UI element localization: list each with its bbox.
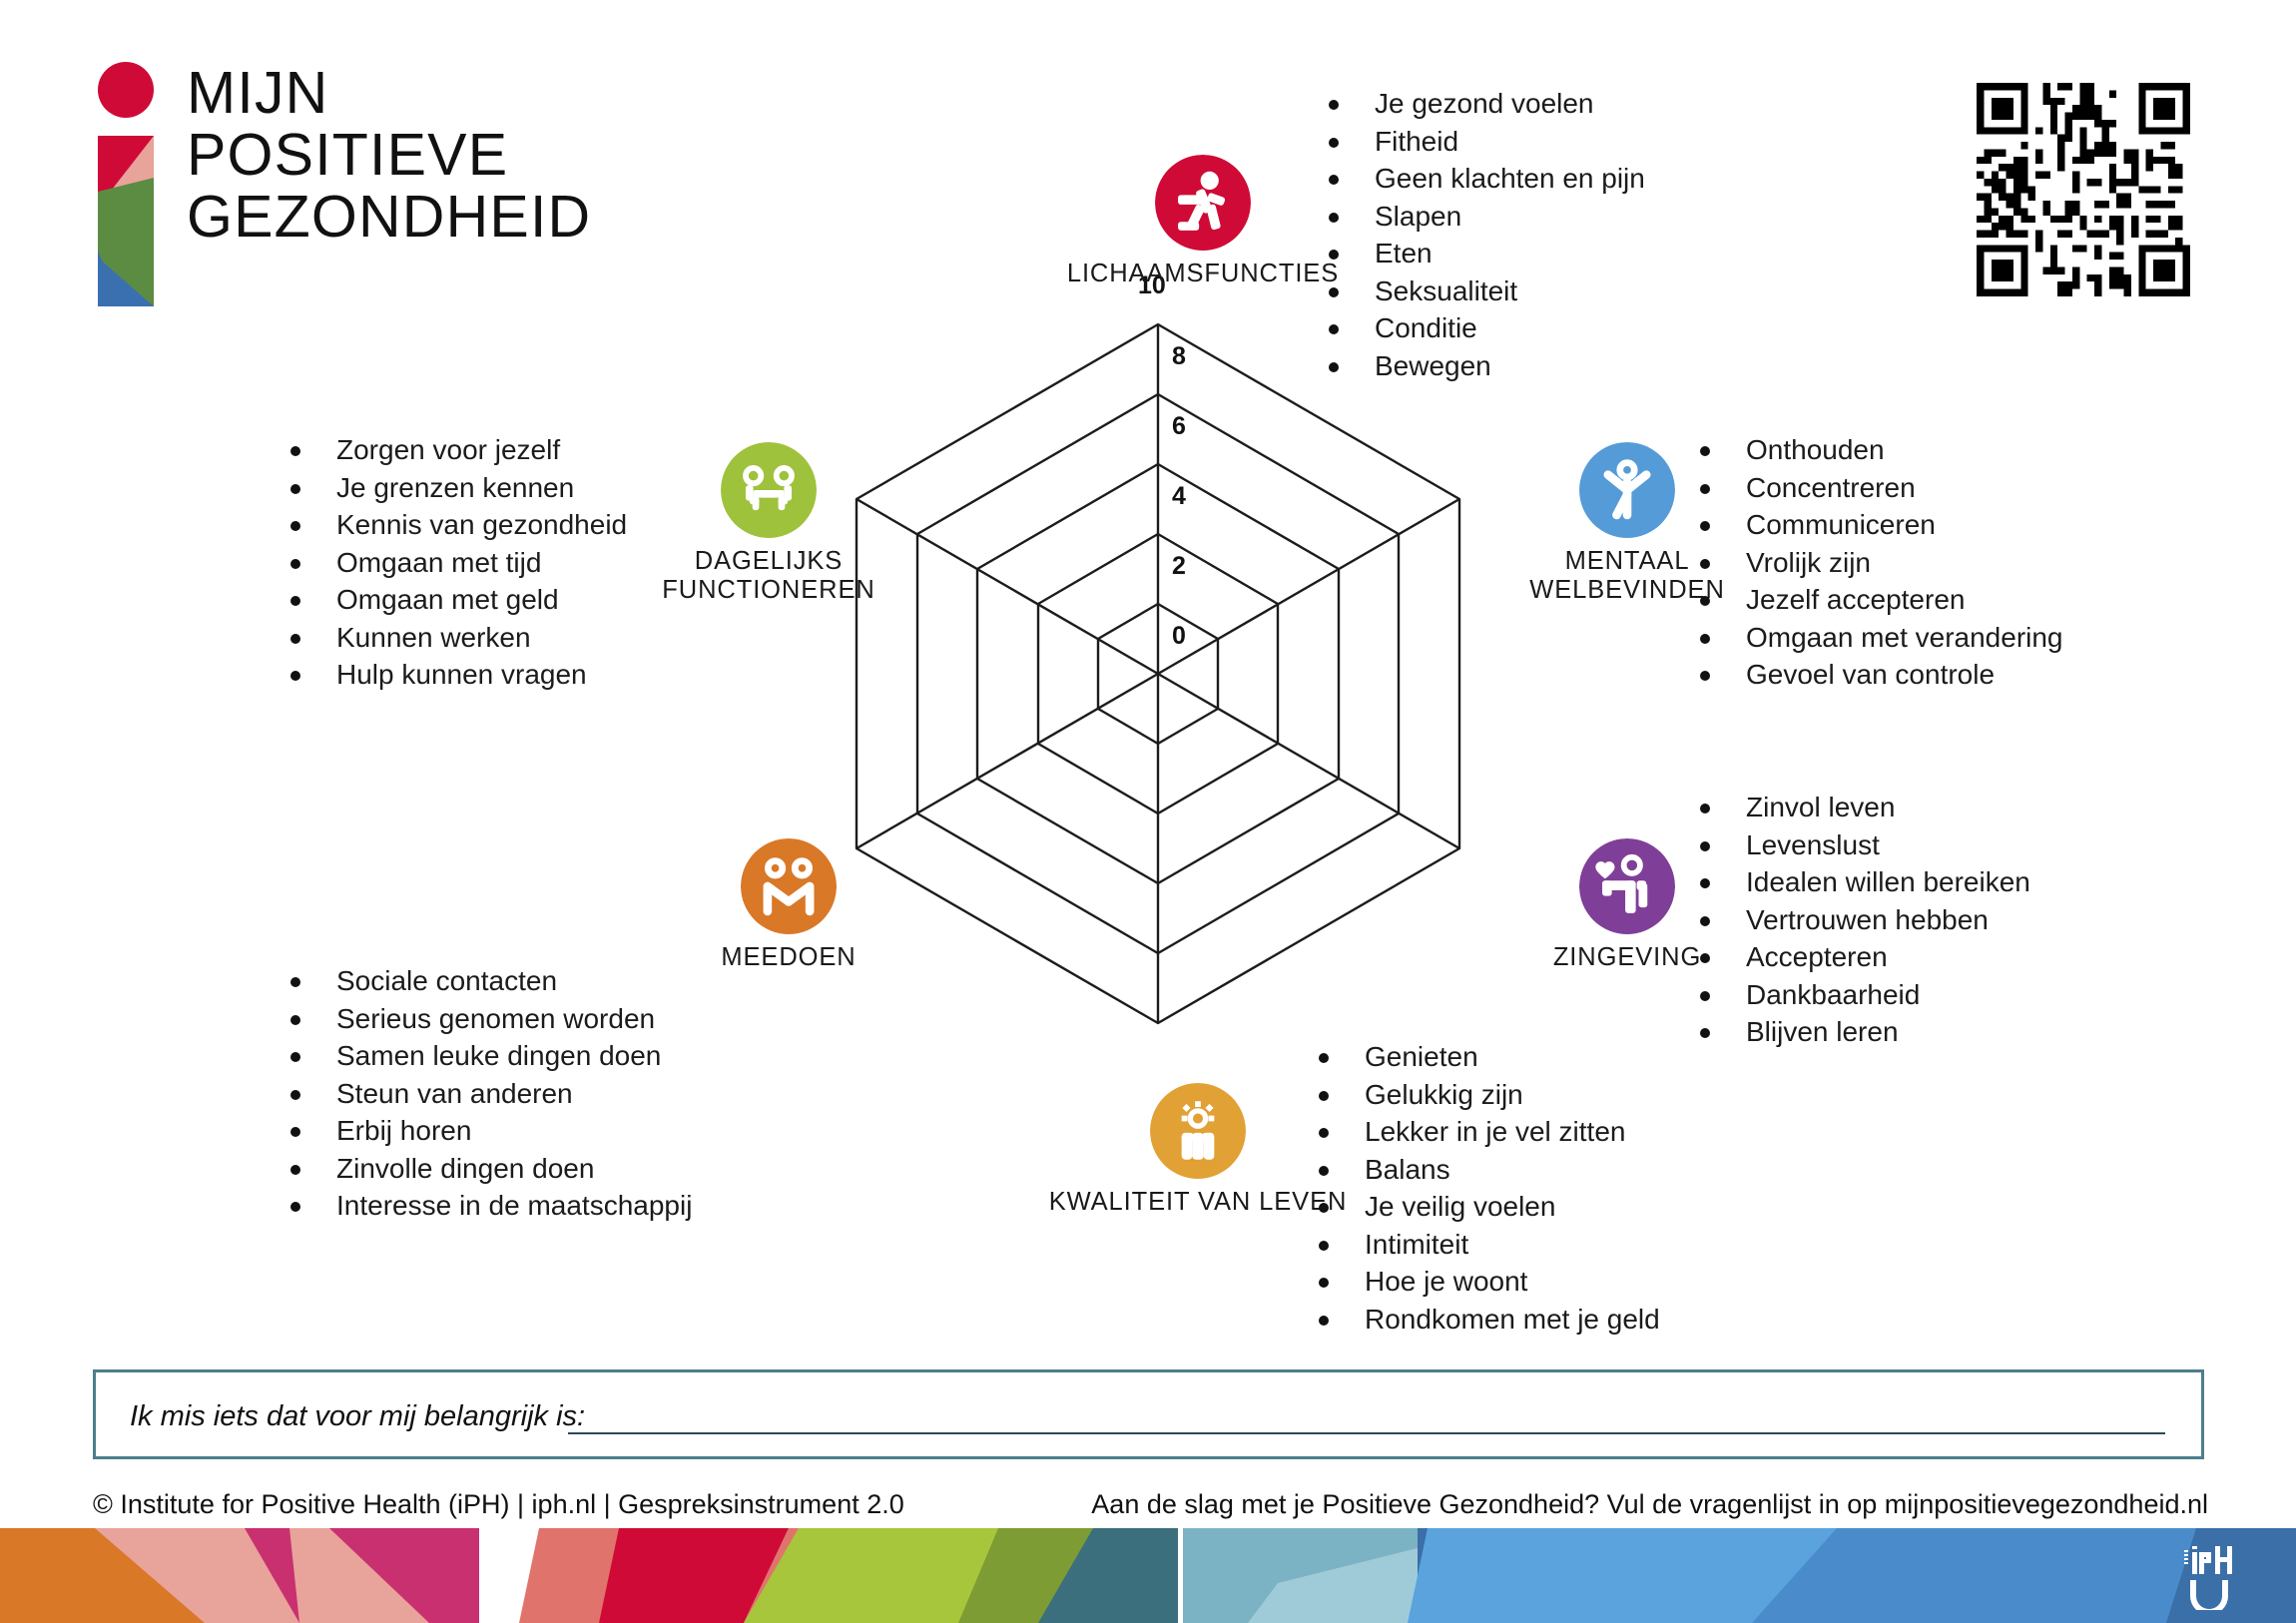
list-item: Hulp kunnen vragen xyxy=(285,656,627,694)
list-item: Communiceren xyxy=(1694,506,2063,544)
list-item: Gelukkig zijn xyxy=(1313,1076,1660,1114)
list-item: Erbij horen xyxy=(285,1112,692,1150)
list-item: Dankbaarheid xyxy=(1694,976,2030,1014)
radar-tick-6: 6 xyxy=(1172,412,1186,440)
iph-logo-icon xyxy=(2180,1542,2242,1610)
list-item: Samen leuke dingen doen xyxy=(285,1037,692,1075)
qr-code-icon[interactable] xyxy=(1949,83,2218,296)
domain-label: LICHAAMSFUNCTIES xyxy=(1033,260,1373,288)
list-item: Gevoel van controle xyxy=(1694,656,2063,694)
domain-node-dagelijks-functioneren[interactable]: DAGELIJKS FUNCTIONEREN xyxy=(619,442,918,605)
list-item: Conditie xyxy=(1323,309,1645,347)
list-item: Genieten xyxy=(1313,1038,1660,1076)
list-item: Slapen xyxy=(1323,198,1645,236)
list-item: Omgaan met geld xyxy=(285,581,627,619)
footer-call-to-action: Aan de slag met je Positieve Gezondheid?… xyxy=(1091,1489,2208,1520)
arms-raised-person-icon xyxy=(1579,442,1675,538)
list-item: Je grenzen kennen xyxy=(285,469,627,507)
list-item: Rondkomen met je geld xyxy=(1313,1301,1660,1339)
missing-item-label: Ik mis iets dat voor mij belangrijk is: xyxy=(130,1400,585,1433)
list-item: Vrolijk zijn xyxy=(1694,544,2063,582)
list-item: Concentreren xyxy=(1694,469,2063,507)
positive-health-worksheet: MIJN POSITIEVE GEZONDHEID xyxy=(0,0,2296,1623)
list-item: Zinvol leven xyxy=(1694,789,2030,826)
missing-item-write-line[interactable] xyxy=(568,1432,2165,1434)
banner-shapes xyxy=(0,1528,2296,1623)
list-item: Je gezond voelen xyxy=(1323,85,1645,123)
list-item: Serieus genomen worden xyxy=(285,1000,692,1038)
logo-mark-icon xyxy=(95,62,157,306)
list-item: Kennis van gezondheid xyxy=(285,506,627,544)
logo-wordmark: MIJN POSITIEVE GEZONDHEID xyxy=(187,62,591,248)
list-kwaliteit-van-leven: Genieten Gelukkig zijn Lekker in je vel … xyxy=(1313,1038,1660,1338)
list-mentaal-welbevinden: Onthouden Concentreren Communiceren Vrol… xyxy=(1694,431,2063,694)
list-item: Zorgen voor jezelf xyxy=(285,431,627,469)
list-item: Omgaan met verandering xyxy=(1694,619,2063,657)
missing-item-box[interactable]: Ik mis iets dat voor mij belangrijk is: xyxy=(93,1369,2204,1459)
radar-tick-2: 2 xyxy=(1172,552,1186,580)
list-item: Lekker in je vel zitten xyxy=(1313,1113,1660,1151)
two-people-sun-icon xyxy=(1150,1083,1246,1179)
radar-spoke-lower-left xyxy=(857,674,1158,848)
list-item: Je veilig voelen xyxy=(1313,1188,1660,1226)
list-dagelijks-functioneren: Zorgen voor jezelf Je grenzen kennen Ken… xyxy=(285,431,627,694)
domain-node-meedoen[interactable]: MEEDOEN xyxy=(649,838,928,972)
list-item: Accepteren xyxy=(1694,938,2030,976)
list-item: Idealen willen bereiken xyxy=(1694,863,2030,901)
logo-line-1: MIJN xyxy=(187,62,591,124)
radar-tick-4: 4 xyxy=(1172,482,1186,510)
person-with-heart-icon xyxy=(1579,838,1675,934)
radar-tick-8: 8 xyxy=(1172,342,1186,370)
list-item: Levenslust xyxy=(1694,826,2030,864)
list-item: Zinvolle dingen doen xyxy=(285,1150,692,1188)
list-item: Bewegen xyxy=(1323,347,1645,385)
two-people-table-icon xyxy=(721,442,817,538)
list-item: Fitheid xyxy=(1323,123,1645,161)
list-item: Geen klachten en pijn xyxy=(1323,160,1645,198)
radar-spoke-upper-right xyxy=(1158,499,1459,674)
running-person-icon xyxy=(1155,155,1251,251)
radar-tick-0: 0 xyxy=(1172,622,1186,650)
color-banner xyxy=(0,1528,2296,1623)
list-item: Steun van anderen xyxy=(285,1075,692,1113)
list-item: Vertrouwen hebben xyxy=(1694,901,2030,939)
domain-node-lichaamsfuncties[interactable]: LICHAAMSFUNCTIES xyxy=(1033,155,1373,288)
list-item: Seksualiteit xyxy=(1323,272,1645,310)
list-zingeving: Zinvol leven Levenslust Idealen willen b… xyxy=(1694,789,2030,1051)
radar-spoke-lower-right xyxy=(1158,674,1459,848)
list-item: Hoe je woont xyxy=(1313,1263,1660,1301)
logo-line-3: GEZONDHEID xyxy=(187,186,591,248)
list-item: Onthouden xyxy=(1694,431,2063,469)
logo-line-2: POSITIEVE xyxy=(187,124,591,186)
list-item: Interesse in de maatschappij xyxy=(285,1187,692,1225)
list-item: Sociale contacten xyxy=(285,962,692,1000)
list-lichaamsfuncties: Je gezond voelen Fitheid Geen klachten e… xyxy=(1323,85,1645,384)
list-item: Omgaan met tijd xyxy=(285,544,627,582)
brand-logo: MIJN POSITIEVE GEZONDHEID xyxy=(95,62,654,306)
domain-label: DAGELIJKS FUNCTIONEREN xyxy=(619,547,918,605)
list-item: Intimiteit xyxy=(1313,1226,1660,1264)
list-item: Jezelf accepteren xyxy=(1694,581,2063,619)
list-meedoen: Sociale contacten Serieus genomen worden… xyxy=(285,962,692,1225)
footer-copyright: © Institute for Positive Health (iPH) | … xyxy=(93,1489,904,1520)
list-item: Balans xyxy=(1313,1151,1660,1189)
list-item: Kunnen werken xyxy=(285,619,627,657)
list-item: Blijven leren xyxy=(1694,1013,2030,1051)
list-item: Eten xyxy=(1323,235,1645,272)
two-people-holding-hands-icon xyxy=(741,838,837,934)
